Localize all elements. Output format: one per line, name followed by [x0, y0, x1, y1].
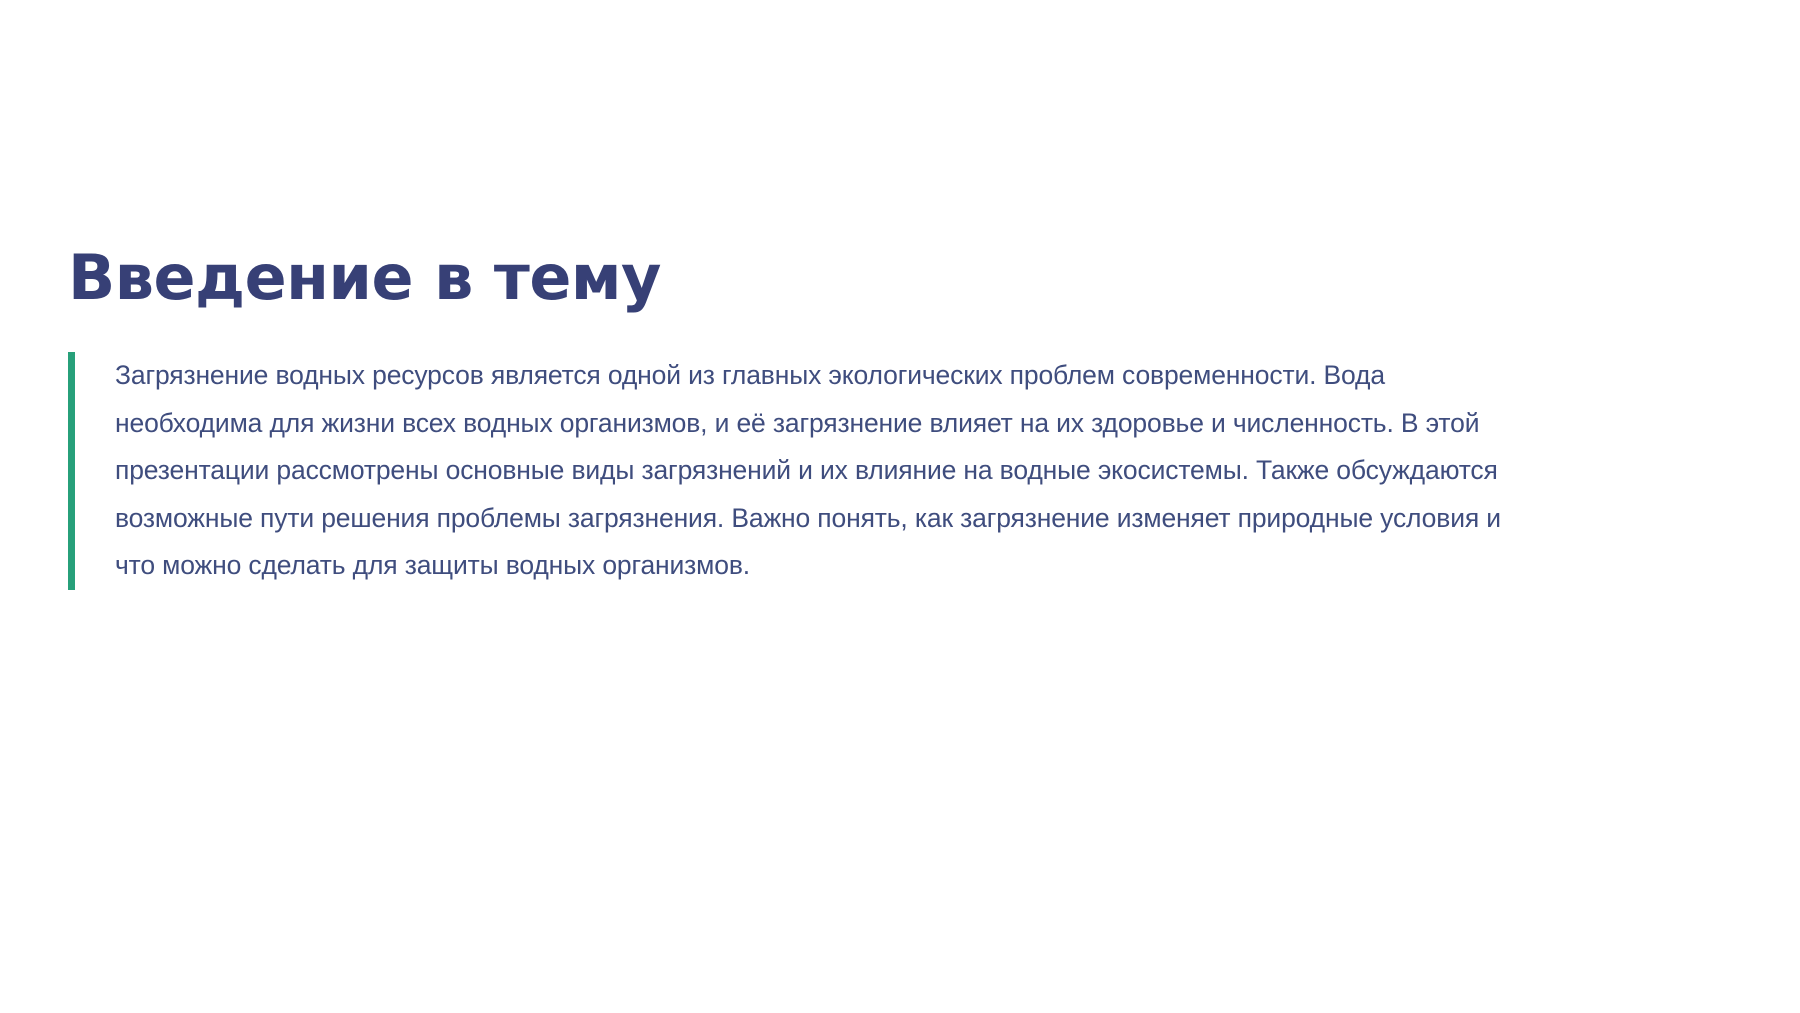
slide-content-area: Введение в тему Загрязнение водных ресур… — [68, 245, 1728, 590]
body-text-block: Загрязнение водных ресурсов является одн… — [68, 352, 1728, 590]
presentation-slide: Введение в тему Загрязнение водных ресур… — [0, 0, 1800, 1013]
accent-bar — [68, 352, 75, 590]
body-paragraph: Загрязнение водных ресурсов является одн… — [115, 352, 1511, 590]
page-title: Введение в тему — [68, 245, 1728, 310]
